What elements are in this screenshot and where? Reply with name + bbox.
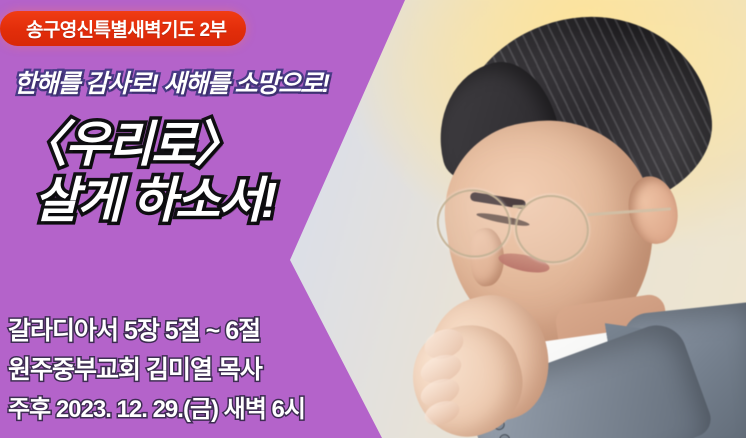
series-badge-label: 송구영신특별새벽기도 2부 bbox=[26, 15, 226, 42]
sermon-title-line-1: 〈우리로〉 bbox=[18, 118, 241, 172]
text-overlay: 송구영신특별새벽기도 2부 한해를 감사로! 새해를 소망으로! 〈우리로〉 살… bbox=[0, 0, 746, 438]
sermon-thumbnail: 송구영신특별새벽기도 2부 한해를 감사로! 새해를 소망으로! 〈우리로〉 살… bbox=[0, 0, 746, 438]
scripture-reference: 갈라디아서 5장 5절 ~ 6절 bbox=[8, 311, 305, 347]
footer-info: 갈라디아서 5장 5절 ~ 6절 원주중부교회 김미열 목사 주후 2023. … bbox=[8, 311, 305, 424]
service-datetime: 주후 2023. 12. 29.(금) 새벽 6시 bbox=[8, 389, 305, 424]
subtitle-line: 한해를 감사로! 새해를 소망으로! bbox=[14, 64, 329, 100]
sermon-title-line-2: 살게 하소서! bbox=[18, 174, 275, 230]
church-and-speaker: 원주중부교회 김미열 목사 bbox=[8, 350, 305, 386]
series-badge: 송구영신특별새벽기도 2부 bbox=[0, 11, 246, 46]
sermon-title: 〈우리로〉 살게 하소서! bbox=[18, 118, 275, 230]
